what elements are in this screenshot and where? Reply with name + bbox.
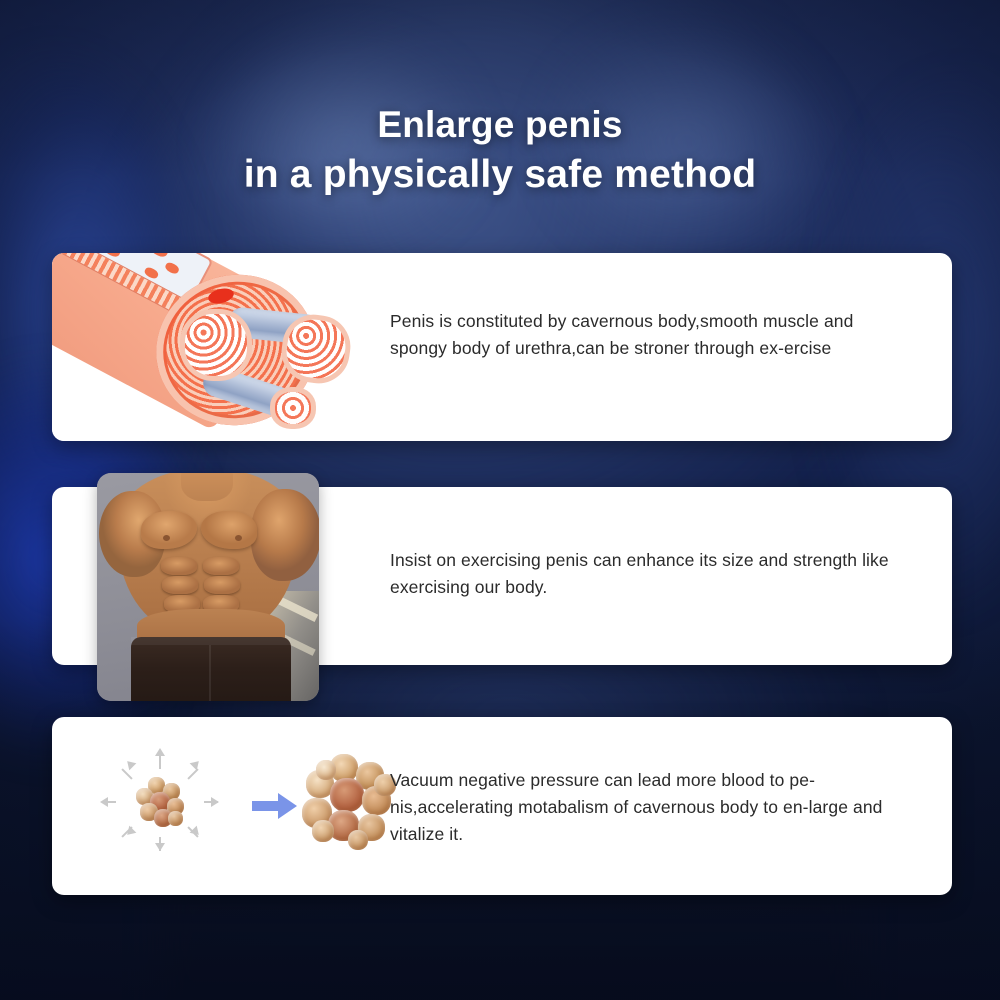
cell-growth-illustration: [100, 749, 390, 864]
cell-cluster-large: [302, 754, 398, 850]
anatomy-spongy-mesh: [185, 314, 247, 376]
blue-arrow-icon: [252, 791, 298, 821]
photo-nipple-left: [163, 535, 170, 541]
anatomy-illustration: [52, 253, 354, 441]
infographic-page: Enlarge penis in a physically safe metho…: [0, 0, 1000, 1000]
info-card-anatomy: Penis is constituted by cavernous body,s…: [52, 253, 952, 441]
cell-cluster-small: [134, 777, 186, 829]
photo-shoulder-right: [251, 489, 319, 581]
page-title-line-1: Enlarge penis: [0, 100, 1000, 150]
info-card-vacuum: Vacuum negative pressure can lead more b…: [52, 717, 952, 895]
anatomy-spongy-mesh: [275, 392, 311, 424]
photo-shorts-seam: [209, 645, 211, 701]
page-title-line-2: in a physically safe method: [0, 150, 1000, 200]
anatomy-corpus-spongiosum: [270, 387, 316, 429]
bodybuilder-photo: [97, 473, 319, 701]
page-title: Enlarge penis in a physically safe metho…: [0, 100, 1000, 200]
photo-neck: [181, 473, 233, 501]
card-text-exercise: Insist on exercising penis can enhance i…: [390, 547, 910, 601]
anatomy-spongy-mesh: [283, 316, 349, 382]
photo-nipple-right: [235, 535, 242, 541]
card-text-vacuum: Vacuum negative pressure can lead more b…: [390, 767, 910, 848]
card-text-anatomy: Penis is constituted by cavernous body,s…: [390, 308, 910, 362]
photo-shorts: [131, 637, 291, 701]
anatomy-corpus-cavernosum-left: [180, 309, 252, 381]
